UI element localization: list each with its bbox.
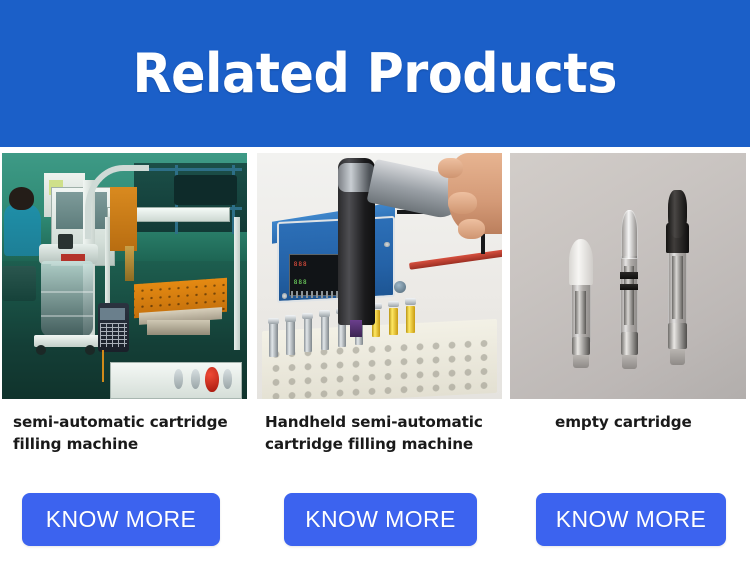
empty-cartridge-in-tray [269, 320, 277, 357]
cartridge-center-post [575, 291, 586, 334]
product-card: empty cartridge KNOW MORE [507, 147, 750, 572]
operator-finger [438, 158, 463, 178]
know-more-button[interactable]: KNOW MORE [22, 493, 220, 546]
product-action-row: KNOW MORE [0, 493, 251, 546]
controller-display-buttons [291, 291, 338, 298]
white-ceramic-mouthpiece [569, 239, 593, 285]
product-card: 888 888 [251, 147, 507, 572]
filled-cartridge-in-tray [389, 308, 397, 335]
semi-automatic-cartridge-filling-machine-photo[interactable] [2, 153, 247, 399]
related-products-section: Related Products [0, 0, 750, 572]
empty-cartridge-in-tray [321, 313, 329, 350]
section-banner: Related Products [0, 0, 750, 147]
tray-hole-pattern [264, 334, 494, 399]
empty-cartridge-black-tip [661, 190, 694, 375]
filled-cartridge-in-tray [406, 306, 414, 333]
product-image-wrapper: 888 888 [251, 147, 507, 400]
tank-red-label [61, 254, 86, 261]
product-image-wrapper [0, 147, 251, 400]
black-mouthpiece [668, 190, 686, 238]
empty-cartridge-clear-tip [614, 210, 645, 375]
product-caption: Handheld semi-automatic cartridge fillin… [251, 400, 507, 455]
cartridge-chrome-base [572, 337, 590, 356]
cartridge-collar [388, 301, 399, 307]
rack-beam [134, 168, 242, 171]
cartridge-seal-ring [620, 284, 638, 291]
know-more-button[interactable]: KNOW MORE [536, 493, 726, 546]
clear-mouthpiece [621, 210, 638, 259]
empty-cartridge-in-tray [286, 318, 294, 355]
controller-display-lower-value: 888 [294, 276, 333, 288]
product-image-wrapper [507, 147, 750, 400]
filling-nozzle [125, 246, 135, 280]
cartridge-threaded-foot [622, 355, 637, 370]
worker-head [9, 187, 34, 209]
cartridge-collar [302, 313, 313, 319]
controller-air-port [394, 281, 406, 293]
page-title: Related Products [133, 47, 617, 101]
pressure-tank-body [41, 261, 92, 337]
product-caption: semi-automatic cartridge filling machine [0, 400, 251, 455]
product-action-row: KNOW MORE [507, 493, 750, 546]
cartridge-seal-ring [620, 272, 638, 279]
filling-gun-tip [350, 320, 362, 337]
empty-cartridge-white-tip [564, 239, 597, 374]
empty-cartridge-in-tray [304, 315, 312, 352]
gantry-leg [234, 217, 240, 350]
jig-riser [147, 320, 211, 335]
cartridge-chrome-base [668, 323, 686, 349]
product-card: semi-automatic cartridge filling machine… [0, 147, 251, 572]
pendant-screen [100, 308, 125, 320]
cartridge-threaded-foot [670, 349, 686, 366]
pendant-cable [102, 350, 104, 382]
cartridge-collar [319, 310, 330, 316]
cartridge-threaded-foot [573, 355, 589, 367]
product-action-row: KNOW MORE [251, 493, 507, 546]
cartridge-collar [405, 298, 416, 304]
tank-gauge [58, 234, 73, 249]
empty-cartridge-photo[interactable] [510, 153, 746, 399]
cartridge-collar [285, 315, 296, 321]
cartridge-chrome-base [621, 332, 638, 355]
pendant-keypad [100, 323, 127, 348]
worker-body [4, 205, 41, 257]
trolley-wheel [36, 345, 46, 355]
emergency-stop-button [205, 367, 218, 392]
trolley-wheel [85, 345, 95, 355]
controller-display-upper-value: 888 [294, 259, 333, 271]
product-caption: empty cartridge [507, 400, 750, 434]
operator-finger [458, 219, 485, 239]
tank-highlight [41, 315, 92, 317]
floor-clutter [2, 266, 36, 300]
tank-highlight [41, 291, 92, 293]
cartridge-collar [268, 318, 279, 324]
background-machine [174, 175, 238, 205]
cartridge-center-post [672, 256, 683, 319]
handheld-semi-automatic-cartridge-filling-machine-photo[interactable]: 888 888 [257, 153, 502, 399]
product-card-grid: semi-automatic cartridge filling machine… [0, 147, 750, 572]
know-more-button[interactable]: KNOW MORE [284, 493, 477, 546]
